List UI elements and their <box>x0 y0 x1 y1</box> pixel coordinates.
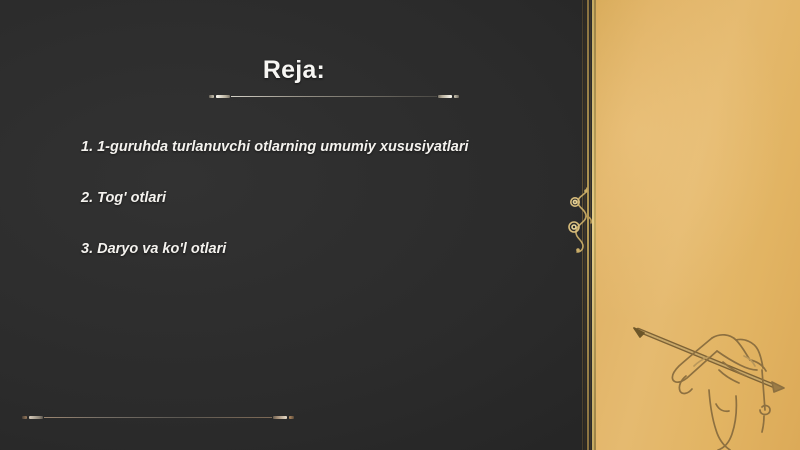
divider-line <box>231 96 437 97</box>
footer-divider-line <box>44 417 272 418</box>
hand-holding-pen-illustration <box>624 304 800 450</box>
page-title: Reja: <box>0 58 588 83</box>
footer-divider-ornament <box>22 412 294 422</box>
footer-divider-cap-right-icon <box>272 416 294 419</box>
agenda-item-1: 1. 1-guruhda turlanuvchi otlarning umumi… <box>81 138 551 156</box>
agenda-item-2: 2. Tog' otlari <box>81 189 551 207</box>
title-block: Reja: <box>0 58 588 83</box>
scroll-filigree-icon <box>566 186 600 254</box>
agenda-list: 1. 1-guruhda turlanuvchi otlarning umumi… <box>81 138 551 258</box>
divider-cap-right-icon <box>437 95 459 98</box>
footer-divider-cap-left-icon <box>22 416 44 419</box>
title-divider-ornament <box>209 91 459 101</box>
agenda-item-3: 3. Daryo va ko'l otlari <box>81 240 551 258</box>
presentation-slide: Reja: 1. 1-guruhda turlanuvchi otlarning… <box>0 0 800 450</box>
divider-cap-left-icon <box>209 95 231 98</box>
